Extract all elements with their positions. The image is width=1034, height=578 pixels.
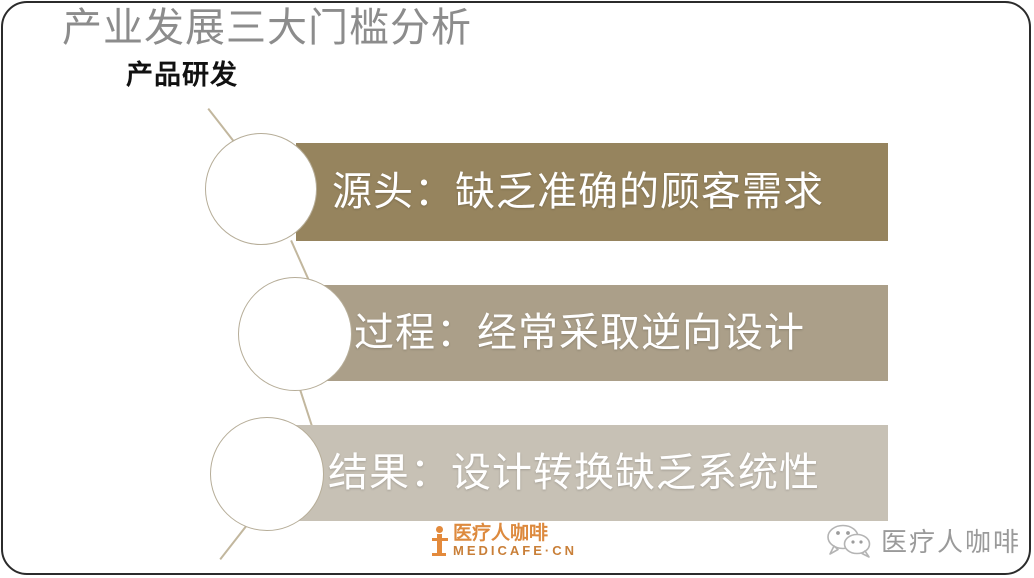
center-brand-logo: 医疗人咖啡 MEDICAFE·CN <box>432 524 577 557</box>
process-node-circle-1[interactable] <box>205 133 317 245</box>
connector-line-top <box>207 108 234 142</box>
process-step-label-2: 过程：经常采取逆向设计 <box>354 311 805 355</box>
process-step-label-1: 源头：缺乏准确的顾客需求 <box>332 170 824 214</box>
wechat-icon <box>826 524 872 558</box>
process-step-bar-1[interactable]: 源头：缺乏准确的顾客需求 <box>296 143 888 241</box>
process-step-bar-3[interactable]: 结果：设计转换缺乏系统性 <box>296 425 888 521</box>
process-step-label-3: 结果：设计转换缺乏系统性 <box>328 451 820 495</box>
process-diagram: 源头：缺乏准确的顾客需求 过程：经常采取逆向设计 结果：设计转换缺乏系统性 <box>0 0 1034 578</box>
logo-name-cn: 医疗人咖啡 <box>453 524 577 543</box>
process-node-circle-3[interactable] <box>210 417 324 531</box>
person-logo-icon <box>432 526 449 556</box>
logo-name-en: MEDICAFE·CN <box>453 544 577 557</box>
slide-canvas: 产业发展三大门槛分析 产品研发 源头：缺乏准确的顾客需求 过程：经常采取逆向设计… <box>0 0 1034 578</box>
process-step-bar-2[interactable]: 过程：经常采取逆向设计 <box>296 285 888 381</box>
wechat-watermark: 医疗人咖啡 <box>826 522 1021 559</box>
wechat-label: 医疗人咖啡 <box>881 522 1021 559</box>
process-node-circle-2[interactable] <box>238 277 352 391</box>
